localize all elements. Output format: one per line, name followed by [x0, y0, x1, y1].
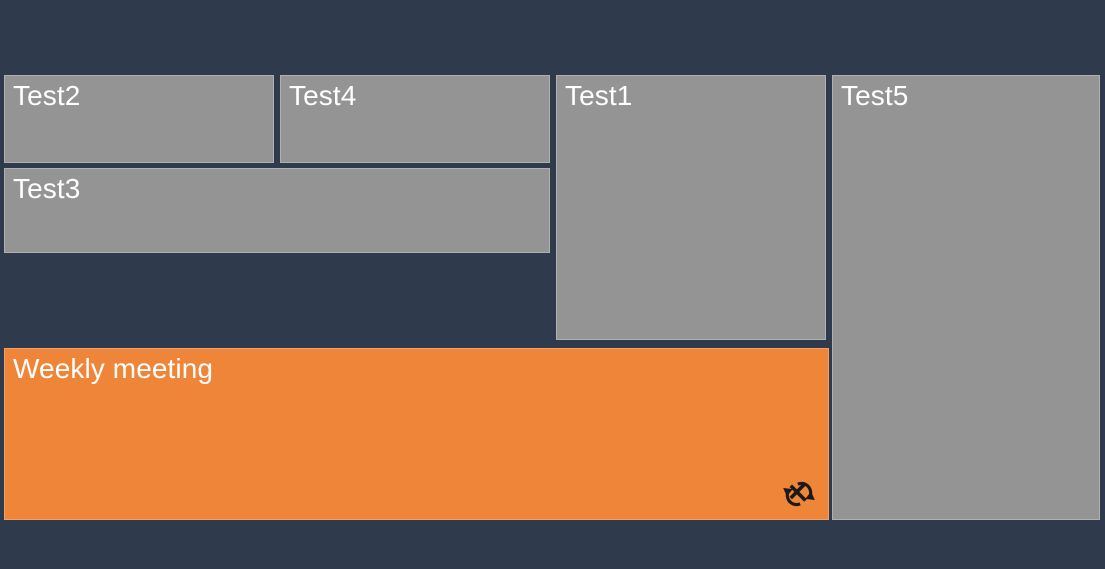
calendar-event[interactable]: Test2 — [4, 75, 274, 163]
calendar-event-title: Test2 — [5, 76, 273, 112]
calendar-event[interactable]: Weekly meeting — [4, 348, 829, 520]
calendar-event-title: Test5 — [833, 76, 1099, 112]
calendar-event[interactable]: Test1 — [556, 75, 826, 340]
recurring-event-icon — [780, 475, 818, 513]
calendar-event[interactable]: Test3 — [4, 168, 550, 253]
calendar-event-title: Weekly meeting — [5, 349, 828, 385]
calendar-event[interactable]: Test4 — [280, 75, 550, 163]
calendar-event-title: Test1 — [557, 76, 825, 112]
calendar-event[interactable]: Test5 — [832, 75, 1100, 520]
calendar-event-title: Test3 — [5, 169, 549, 205]
calendar-day-grid: Test2Test4Test3Test1Test5Weekly meeting — [0, 0, 1105, 569]
calendar-event-title: Test4 — [281, 76, 549, 112]
